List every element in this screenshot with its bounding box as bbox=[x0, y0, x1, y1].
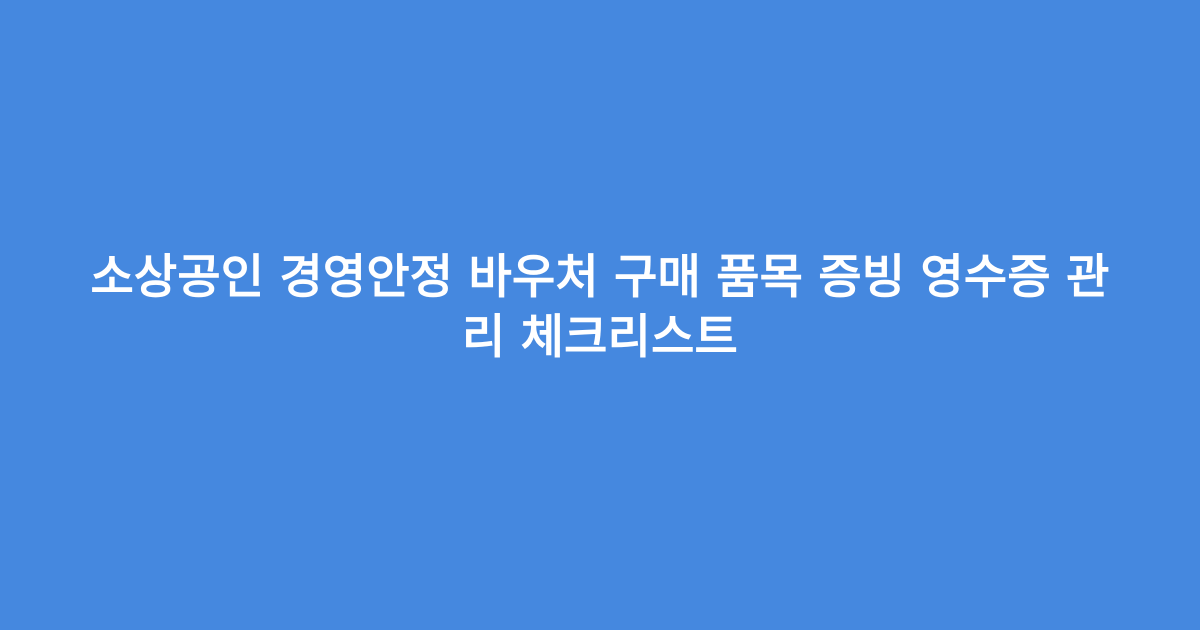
title-block: 소상공인 경영안정 바우처 구매 품목 증빙 영수증 관리 체크리스트 bbox=[70, 247, 1130, 367]
title-card: 소상공인 경영안정 바우처 구매 품목 증빙 영수증 관리 체크리스트 bbox=[0, 0, 1200, 630]
page-title: 소상공인 경영안정 바우처 구매 품목 증빙 영수증 관리 체크리스트 bbox=[70, 247, 1130, 367]
